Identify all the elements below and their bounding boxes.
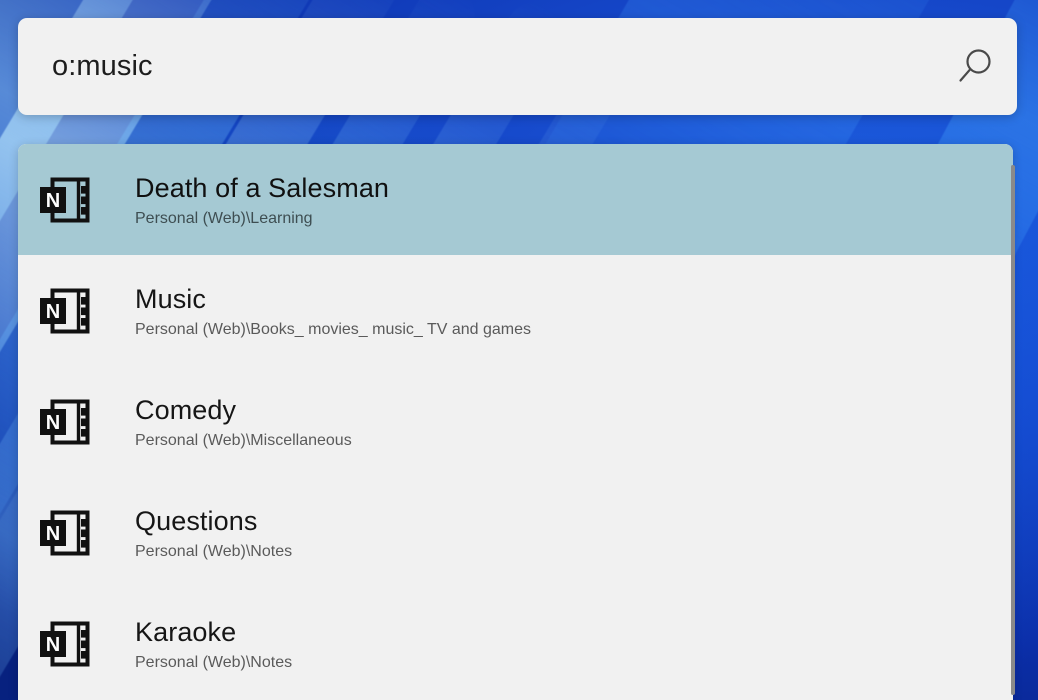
results-scrollbar-thumb[interactable] — [1011, 165, 1015, 695]
result-row-0-selected[interactable]: N Death of a Salesman Personal (Web)\Lea… — [18, 144, 1013, 255]
search-bar[interactable]: o:music — [18, 18, 1017, 115]
result-subtitle: Personal (Web)\Learning — [135, 209, 1013, 228]
result-row-text: Comedy Personal (Web)\Miscellaneous — [110, 394, 1013, 450]
results-scrollbar[interactable] — [1011, 165, 1015, 695]
result-title: Music — [135, 283, 1013, 315]
result-title: Death of a Salesman — [135, 172, 1013, 204]
result-row-2[interactable]: N Comedy Personal (Web)\Miscellaneous — [18, 366, 1013, 477]
result-subtitle: Personal (Web)\Notes — [135, 653, 1013, 672]
onenote-icon: N — [38, 397, 110, 447]
svg-text:N: N — [46, 412, 60, 434]
onenote-icon: N — [38, 286, 110, 336]
search-icon[interactable] — [931, 45, 1017, 89]
result-title: Comedy — [135, 394, 1013, 426]
result-subtitle: Personal (Web)\Notes — [135, 542, 1013, 561]
result-subtitle: Personal (Web)\Miscellaneous — [135, 431, 1013, 450]
result-row-text: Music Personal (Web)\Books_ movies_ musi… — [110, 283, 1013, 339]
result-row-4[interactable]: N Karaoke Personal (Web)\Notes — [18, 588, 1013, 699]
search-input[interactable]: o:music — [18, 50, 931, 83]
result-title: Questions — [135, 505, 1013, 537]
svg-text:N: N — [46, 634, 60, 656]
result-title: Karaoke — [135, 616, 1013, 648]
result-row-1[interactable]: N Music Personal (Web)\Books_ movies_ mu… — [18, 255, 1013, 366]
search-results-panel: N Death of a Salesman Personal (Web)\Lea… — [18, 144, 1013, 700]
result-row-text: Death of a Salesman Personal (Web)\Learn… — [110, 172, 1013, 228]
onenote-icon: N — [38, 175, 110, 225]
onenote-icon: N — [38, 619, 110, 669]
svg-text:N: N — [46, 523, 60, 545]
search-results-list: N Death of a Salesman Personal (Web)\Lea… — [18, 144, 1013, 699]
result-row-text: Questions Personal (Web)\Notes — [110, 505, 1013, 561]
onenote-icon: N — [38, 508, 110, 558]
svg-text:N: N — [46, 301, 60, 323]
result-row-text: Karaoke Personal (Web)\Notes — [110, 616, 1013, 672]
result-subtitle: Personal (Web)\Books_ movies_ music_ TV … — [135, 320, 1013, 339]
result-row-3[interactable]: N Questions Personal (Web)\Notes — [18, 477, 1013, 588]
svg-text:N: N — [46, 190, 60, 212]
